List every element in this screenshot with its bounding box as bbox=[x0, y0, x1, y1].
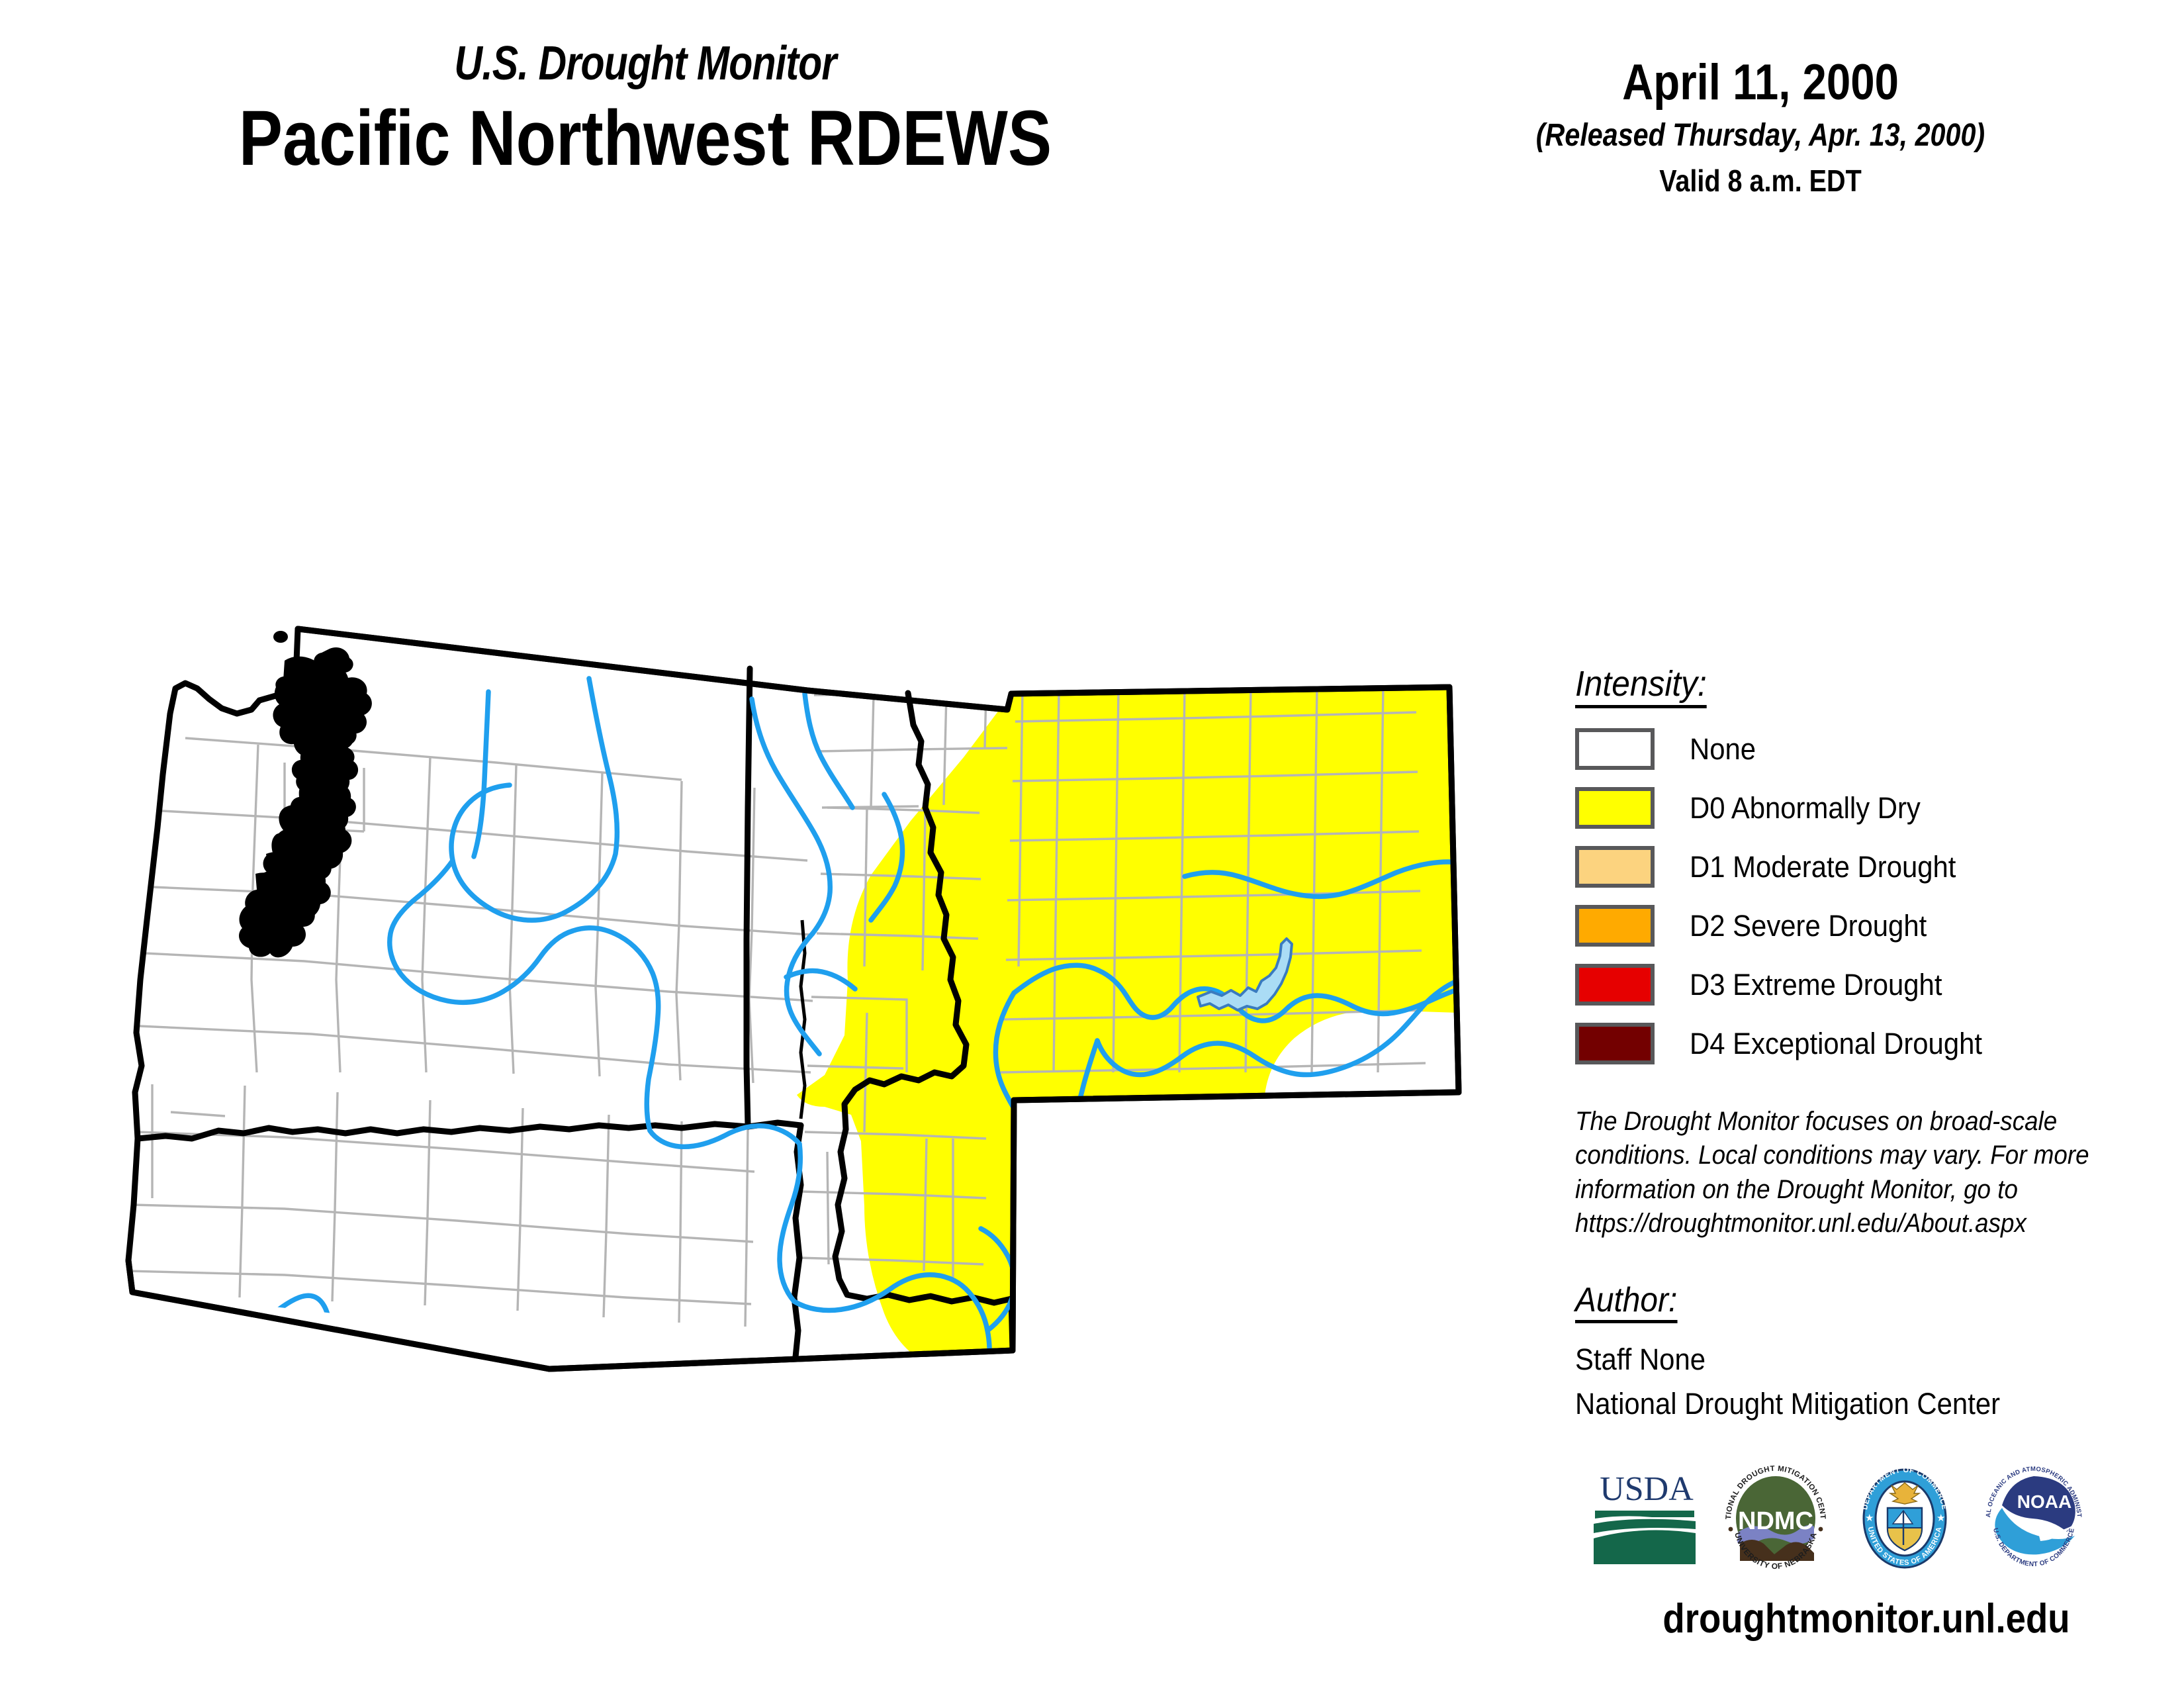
legend-list: None D0 Abnormally Dry D1 Moderate Droug… bbox=[1575, 726, 2158, 1068]
page-title: Pacific Northwest RDEWS bbox=[103, 98, 1187, 180]
legend-swatch-d4 bbox=[1575, 1023, 1655, 1064]
author-heading: Author: bbox=[1575, 1282, 1677, 1323]
svg-text:★: ★ bbox=[1936, 1513, 1945, 1524]
author-name: Staff None bbox=[1575, 1340, 2116, 1378]
svg-text:★: ★ bbox=[1865, 1513, 1874, 1524]
author-organization: National Drought Mitigation Center bbox=[1575, 1385, 2116, 1423]
legend-item-none[interactable]: None bbox=[1575, 726, 2158, 773]
legend-swatch-none bbox=[1575, 728, 1655, 770]
header-title-block: U.S. Drought Monitor Pacific Northwest R… bbox=[0, 40, 1291, 180]
legend-label-d2: D2 Severe Drought bbox=[1690, 909, 1927, 943]
disclaimer-text: The Drought Monitor focuses on broad-sca… bbox=[1575, 1105, 2142, 1241]
map-svg bbox=[86, 609, 1496, 1383]
legend-item-d4[interactable]: D4 Exceptional Drought bbox=[1575, 1020, 2158, 1068]
legend-swatch-d2 bbox=[1575, 905, 1655, 947]
drought-map[interactable] bbox=[86, 609, 1496, 1383]
department-of-commerce-seal: DEPARTMENT OF COMMERCE UNITED STATES OF … bbox=[1846, 1455, 1962, 1577]
ndmc-logo: NDMC NATIONAL DROUGHT MITIGATION CENTER … bbox=[1717, 1455, 1833, 1577]
legend-swatch-d3 bbox=[1575, 964, 1655, 1006]
legend-label-d3: D3 Extreme Drought bbox=[1690, 968, 1942, 1002]
legend-item-d1[interactable]: D1 Moderate Drought bbox=[1575, 843, 2158, 891]
footer-url[interactable]: droughtmonitor.unl.edu bbox=[1610, 1595, 2122, 1642]
legend-item-d2[interactable]: D2 Severe Drought bbox=[1575, 902, 2158, 950]
header-date-block: April 11, 2000 (Released Thursday, Apr. … bbox=[1443, 56, 2078, 197]
legend-item-d0[interactable]: D0 Abnormally Dry bbox=[1575, 784, 2158, 832]
legend-label-none: None bbox=[1690, 732, 1756, 767]
legend-heading: Intensity: bbox=[1575, 665, 1707, 708]
legend-label-d4: D4 Exceptional Drought bbox=[1690, 1027, 1982, 1061]
release-date: (Released Thursday, Apr. 13, 2000) bbox=[1487, 118, 2034, 154]
svg-text:NOAA: NOAA bbox=[2017, 1491, 2071, 1512]
noaa-logo: NOAA NATIONAL OCEANIC AND ATMOSPHERIC AD… bbox=[1976, 1455, 2091, 1577]
valid-date: April 11, 2000 bbox=[1487, 56, 2034, 109]
drought-monitor-supertitle: U.S. Drought Monitor bbox=[116, 40, 1175, 87]
svg-text:USDA: USDA bbox=[1600, 1470, 1694, 1508]
legend-swatch-d0 bbox=[1575, 787, 1655, 829]
legend-label-d0: D0 Abnormally Dry bbox=[1690, 791, 1921, 825]
legend-label-d1: D1 Moderate Drought bbox=[1690, 850, 1956, 884]
svg-text:NDMC: NDMC bbox=[1738, 1507, 1813, 1535]
legend-panel: Intensity: None D0 Abnormally Dry D1 Mod… bbox=[1575, 665, 2158, 1423]
logo-row: USDA NDMC NATIONAL DROUGHT MITIGATION CE… bbox=[1588, 1453, 2091, 1579]
valid-time: Valid 8 a.m. EDT bbox=[1487, 164, 2034, 198]
usda-logo: USDA bbox=[1588, 1455, 1704, 1577]
legend-item-d3[interactable]: D3 Extreme Drought bbox=[1575, 961, 2158, 1009]
legend-swatch-d1 bbox=[1575, 846, 1655, 888]
